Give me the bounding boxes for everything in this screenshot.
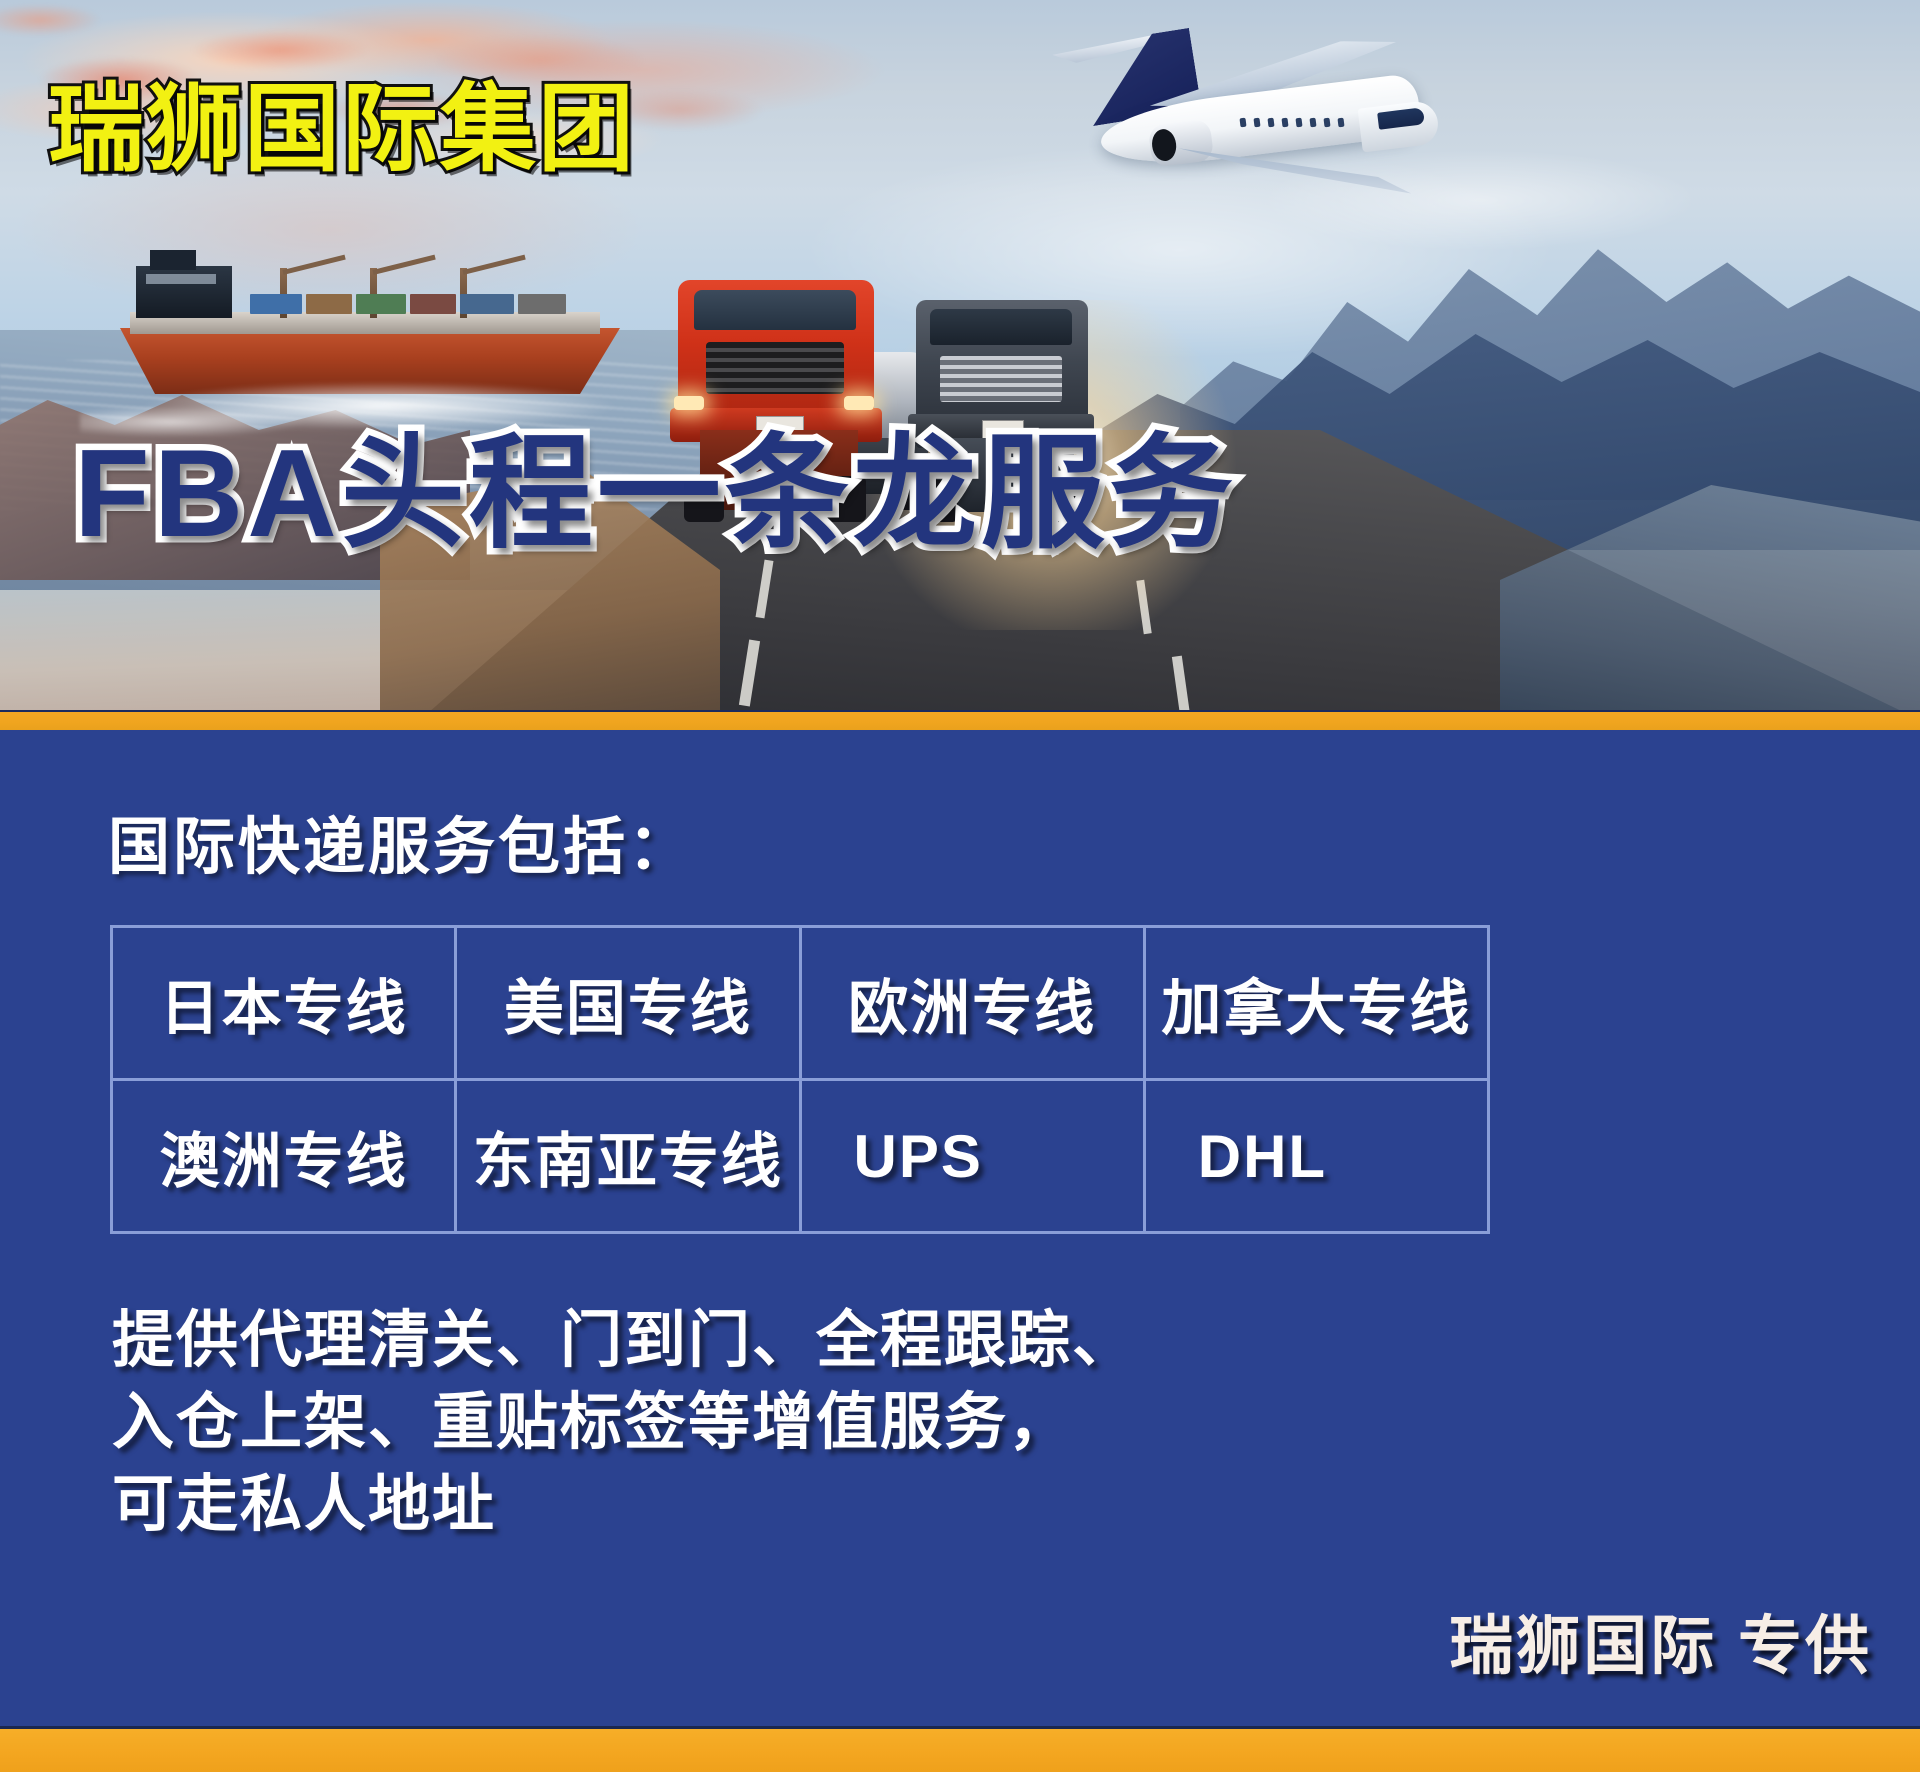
service-blurb: 提供代理清关、门到门、全程跟踪、 入仓上架、重贴标签等增值服务， 可走私人地址 <box>112 1300 1136 1545</box>
service-table: 日本专线 美国专线 欧洲专线 加拿大专线 澳洲专线 东南亚专线 UPS DHL <box>110 925 1490 1234</box>
hero-banner: 瑞狮国际集团 FBA头程一条龙服务 <box>0 0 1920 714</box>
company-logo-text: 瑞狮国际集团 <box>48 82 636 178</box>
table-cell-eu: 欧洲专线 <box>800 927 1144 1080</box>
table-cell-ups: UPS <box>800 1080 1144 1233</box>
table-cell-us: 美国专线 <box>456 927 800 1080</box>
cargo-ship-icon <box>120 250 640 410</box>
panel-heading: 国际快递服务包括： <box>108 796 693 886</box>
info-panel: 国际快递服务包括： 日本专线 美国专线 欧洲专线 加拿大专线 澳洲专线 东南亚专… <box>0 730 1920 1726</box>
table-cell-jp: 日本专线 <box>112 927 456 1080</box>
table-cell-dhl: DHL <box>1144 1080 1488 1233</box>
footer-note: 瑞狮国际 专供 <box>1449 1595 1872 1687</box>
blurb-line-2: 入仓上架、重贴标签等增值服务， <box>112 1382 1136 1464</box>
hero-headline: FBA头程一条龙服务 <box>74 432 1237 556</box>
table-row: 日本专线 美国专线 欧洲专线 加拿大专线 <box>112 927 1489 1080</box>
bottom-orange-bar <box>0 1726 1920 1772</box>
blurb-line-1: 提供代理清关、门到门、全程跟踪、 <box>112 1300 1136 1382</box>
airplane-icon <box>1030 30 1450 220</box>
blurb-line-3: 可走私人地址 <box>112 1464 1136 1546</box>
table-row: 澳洲专线 东南亚专线 UPS DHL <box>112 1080 1489 1233</box>
table-cell-sea: 东南亚专线 <box>456 1080 800 1233</box>
table-cell-ca: 加拿大专线 <box>1144 927 1488 1080</box>
table-cell-au: 澳洲专线 <box>112 1080 456 1233</box>
poster-root: 瑞狮国际集团 FBA头程一条龙服务 国际快递服务包括： 日本专线 美国专线 欧洲… <box>0 0 1920 1772</box>
